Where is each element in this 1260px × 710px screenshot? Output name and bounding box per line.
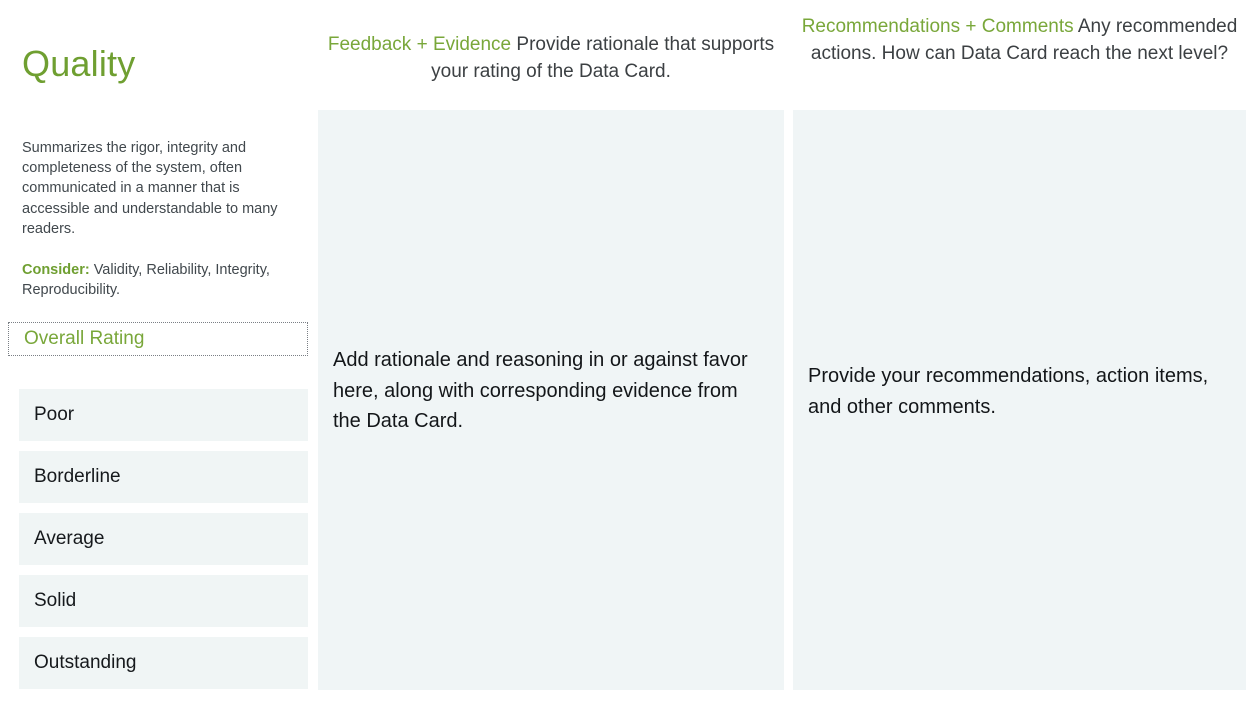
rating-option-label: Poor: [19, 403, 74, 427]
criterion-consider: Consider: Validity, Reliability, Integri…: [22, 260, 290, 300]
rubric-page: Quality Summarizes the rigor, integrity …: [0, 0, 1260, 710]
page-title: Quality: [22, 42, 135, 86]
rating-options-list: Poor Borderline Average Solid Outstandin…: [19, 389, 308, 699]
overall-rating-label: Overall Rating: [9, 327, 144, 351]
recommendations-column: Recommendations + Comments Any recommend…: [793, 0, 1246, 710]
rating-option-poor[interactable]: Poor: [19, 389, 308, 441]
rating-option-outstanding[interactable]: Outstanding: [19, 637, 308, 689]
feedback-column: Feedback + Evidence Provide rationale th…: [318, 0, 784, 710]
recommendations-column-header: Recommendations + Comments Any recommend…: [793, 13, 1246, 67]
criterion-description: Summarizes the rigor, integrity and comp…: [22, 138, 290, 239]
criterion-column: Quality Summarizes the rigor, integrity …: [0, 0, 318, 710]
rating-option-label: Solid: [19, 589, 76, 613]
rating-option-label: Average: [19, 527, 104, 551]
feedback-header-lead: Feedback + Evidence: [328, 34, 511, 55]
overall-rating-box: Overall Rating: [8, 322, 308, 356]
rating-option-solid[interactable]: Solid: [19, 575, 308, 627]
feedback-column-header: Feedback + Evidence Provide rationale th…: [318, 31, 784, 85]
recommendations-header-lead: Recommendations + Comments: [802, 16, 1074, 37]
recommendations-placeholder-text: Provide your recommendations, action ite…: [808, 361, 1229, 422]
feedback-input-panel[interactable]: Add rationale and reasoning in or agains…: [318, 110, 784, 690]
rating-option-borderline[interactable]: Borderline: [19, 451, 308, 503]
feedback-placeholder-text: Add rationale and reasoning in or agains…: [333, 345, 767, 437]
rating-option-label: Outstanding: [19, 651, 136, 675]
rating-option-label: Borderline: [19, 465, 121, 489]
consider-lead: Consider:: [22, 262, 90, 278]
rating-option-average[interactable]: Average: [19, 513, 308, 565]
recommendations-input-panel[interactable]: Provide your recommendations, action ite…: [793, 110, 1246, 690]
